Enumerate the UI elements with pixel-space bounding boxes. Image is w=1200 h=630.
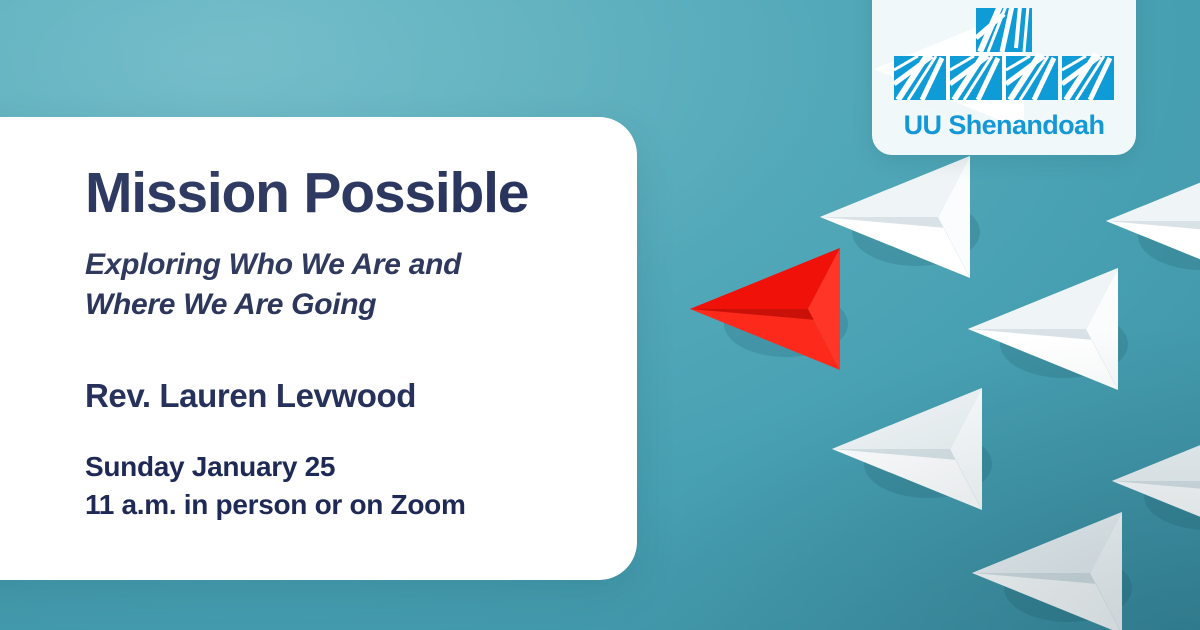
subtitle-line-1: Exploring Who We Are and [85,245,597,285]
event-poster: UU Shenandoah Mission Possible Exploring… [0,0,1200,630]
plane-white-2-icon [1106,160,1200,282]
plane-white-6-icon [972,512,1124,630]
event-date: Sunday January 25 [85,448,597,487]
event-datetime: Sunday January 25 11 a.m. in person or o… [85,448,597,525]
plane-white-4-icon [832,388,984,510]
plane-white-1-icon [820,156,972,278]
uu-shenandoah-chalice-mark-icon [892,8,1116,100]
event-time-location: 11 a.m. in person or on Zoom [85,486,597,525]
event-details-card: Mission Possible Exploring Who We Are an… [0,117,637,580]
uu-shenandoah-logo-card: UU Shenandoah [872,0,1136,155]
page-title: Mission Possible [85,163,597,223]
plane-white-5-icon [1112,420,1200,542]
plane-red-leader-icon [690,248,842,370]
logo-wordmark: UU Shenandoah [872,110,1136,141]
plane-white-3-icon [968,268,1120,390]
subtitle-line-2: Where We Are Going [85,285,597,325]
subtitle: Exploring Who We Are and Where We Are Go… [85,245,597,324]
speaker-name: Rev. Lauren Levwood [85,377,597,415]
